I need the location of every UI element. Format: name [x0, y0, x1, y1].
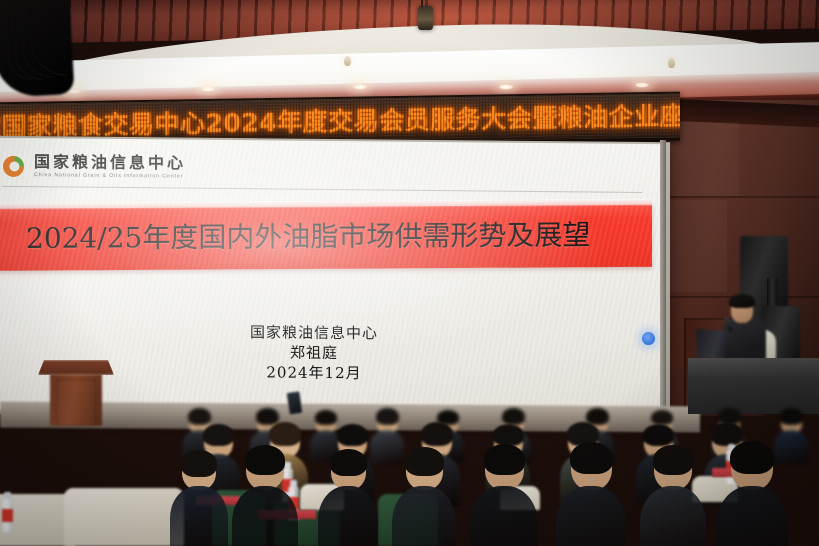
- audience-person: [232, 486, 298, 546]
- audience-hair: [181, 450, 217, 477]
- audience-person: [716, 486, 788, 546]
- audience-hair: [256, 408, 279, 425]
- downlight-icon: [352, 84, 368, 90]
- smartphone-icon: [287, 391, 303, 415]
- downlight-icon: [200, 86, 216, 92]
- audience-person: [556, 486, 626, 546]
- audience-person: [370, 430, 404, 464]
- grain-oils-logo-icon: [2, 154, 27, 179]
- chair-front: [64, 488, 184, 546]
- audience-person: [392, 486, 456, 546]
- audience-hair: [315, 410, 337, 425]
- slide-divider: [2, 186, 642, 193]
- logo-english-text: China National Grain & Oils Information …: [34, 174, 186, 181]
- led-banner-text: 欢国家粮食交易中心2024年度交易会员服务大会暨粮油企业座谈会: [0, 102, 680, 139]
- audience-hair: [493, 424, 524, 446]
- podium-top: [38, 360, 114, 375]
- audience-hair: [421, 422, 453, 446]
- audience-area: [0, 376, 819, 546]
- mouse-cursor-dot-icon[interactable]: [642, 332, 655, 345]
- pendant-light-icon: [668, 58, 675, 68]
- audience-hair: [203, 424, 234, 446]
- audience-hair: [337, 424, 368, 446]
- audience-hair: [502, 408, 525, 425]
- projection-screen-right-edge: [660, 140, 666, 414]
- downlight-icon: [498, 84, 514, 90]
- audience-hair: [330, 449, 367, 476]
- audience-hair: [269, 422, 301, 446]
- audience-hair: [653, 445, 693, 475]
- audience-hair: [245, 445, 285, 475]
- slide-title-text: 2024/25年度国内外油脂市场供需形势及展望: [26, 221, 646, 253]
- ceiling-spotlight-icon: [418, 6, 433, 30]
- audience-person: [170, 486, 228, 546]
- slide-logo: 国家粮油信息中心 China National Grain & Oils Inf…: [2, 154, 186, 181]
- water-bottle: [2, 498, 13, 532]
- presenter-laptop: [696, 329, 729, 359]
- audience-hair: [643, 424, 674, 446]
- audience-hair: [711, 422, 743, 446]
- audience-hair: [405, 447, 444, 476]
- audience-hair: [376, 408, 399, 425]
- logo-chinese-text: 国家粮油信息中心: [34, 155, 186, 172]
- audience-hair: [730, 441, 774, 474]
- audience-hair: [188, 408, 211, 425]
- audience-person: [318, 486, 378, 546]
- audience-hair: [570, 442, 613, 474]
- downlight-icon: [634, 82, 650, 88]
- audience-person: [470, 486, 538, 546]
- pendant-light-icon: [344, 56, 351, 66]
- audience-hair: [484, 444, 525, 475]
- audience-person: [640, 486, 706, 546]
- conference-photo-scene: 欢国家粮食交易中心2024年度交易会员服务大会暨粮油企业座谈会 国家粮油信息中心…: [0, 0, 819, 546]
- audience-person: [774, 430, 808, 464]
- audience-hair: [780, 408, 803, 425]
- presenter-hair: [729, 294, 755, 308]
- audience-hair: [651, 410, 673, 425]
